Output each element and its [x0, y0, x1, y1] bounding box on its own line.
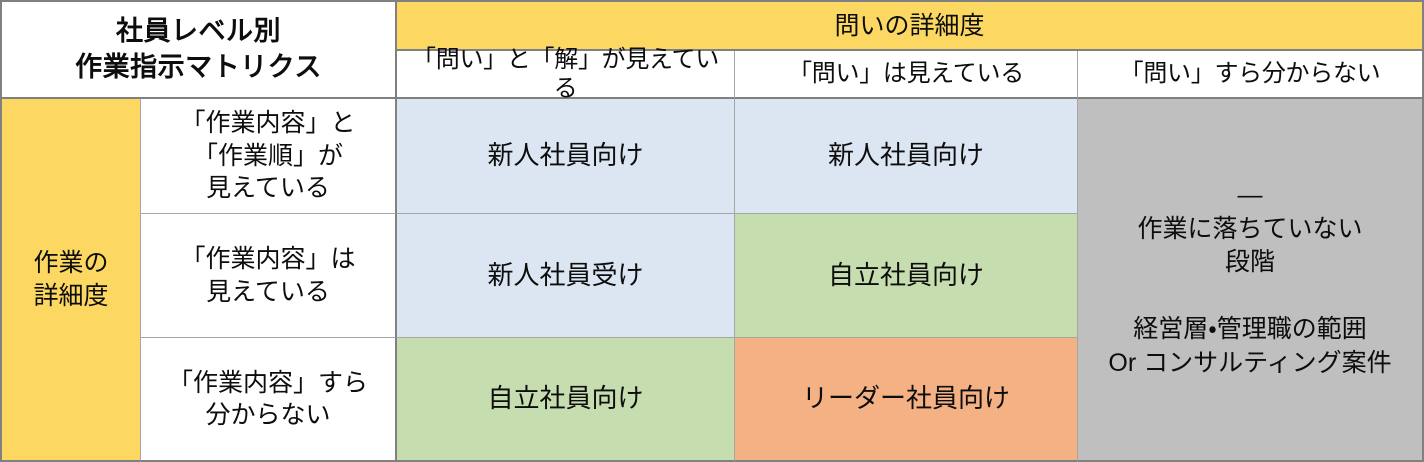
column-header-0: 「問い」と「解」が見えている: [397, 51, 735, 99]
matrix-cell-r1c1: 自立社員向け: [735, 214, 1078, 338]
matrix-cell-r0c1: 新人社員向け: [735, 99, 1078, 214]
matrix-cell-r0c0: 新人社員向け: [397, 99, 735, 214]
row-header-0: 「作業内容」と 「作業順」が 見えている: [141, 99, 397, 214]
column-axis-label: 問いの詳細度: [397, 0, 1424, 51]
row-axis-label: 作業の 詳細度: [0, 99, 141, 462]
column-header-1: 「問い」は見えている: [735, 51, 1078, 99]
work-instruction-matrix: 社員レベル別 作業指示マトリクス 問いの詳細度 「問い」と「解」が見えている 「…: [0, 0, 1424, 462]
matrix-cell-r2c0: 自立社員向け: [397, 338, 735, 462]
matrix-title: 社員レベル別 作業指示マトリクス: [0, 0, 397, 99]
row-header-2: 「作業内容」すら 分からない: [141, 338, 397, 462]
matrix-cell-r2c1: リーダー社員向け: [735, 338, 1078, 462]
row-header-1: 「作業内容」は 見えている: [141, 214, 397, 338]
matrix-cell-r1c0: 新人社員受け: [397, 214, 735, 338]
matrix-cell-merged-out-of-scope: — 作業に落ちていない 段階 経営層・管理職の範囲 Or コンサルティング案件: [1078, 99, 1424, 462]
column-header-2: 「問い」すら分からない: [1078, 51, 1424, 99]
